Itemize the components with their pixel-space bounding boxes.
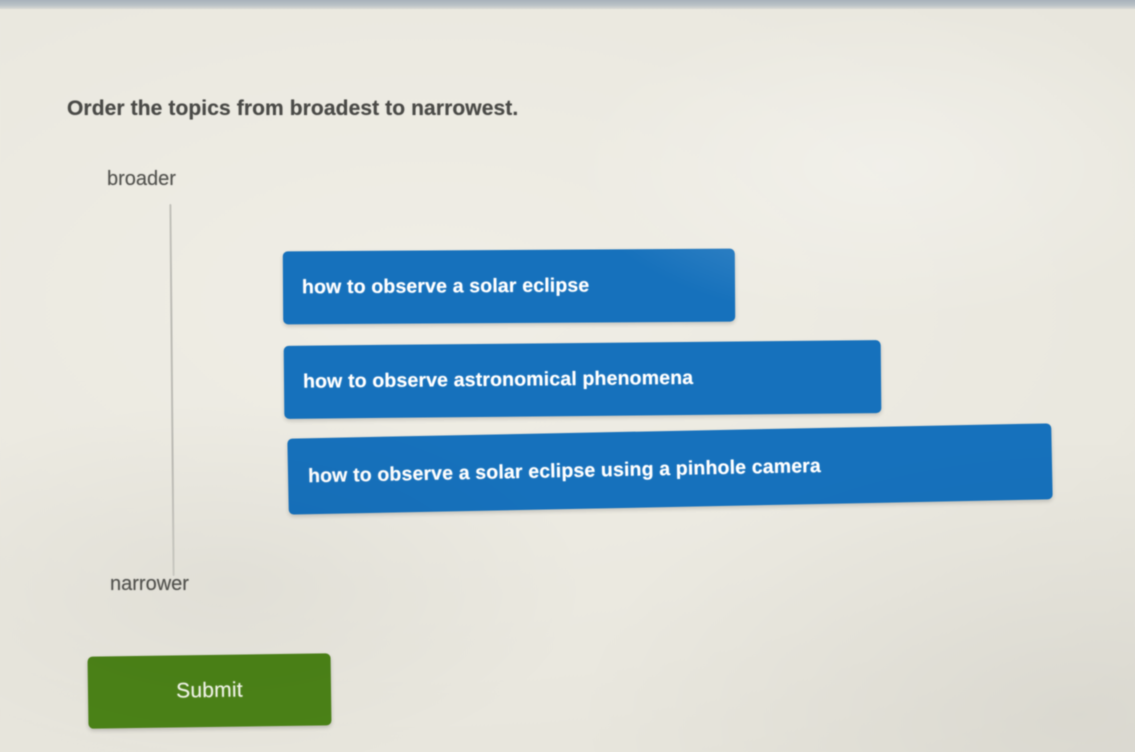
page-top-edge-strip <box>0 0 1135 9</box>
question-page: Order the topics from broadest to narrow… <box>0 0 1135 752</box>
submit-button[interactable]: Submit <box>88 653 332 728</box>
orderable-card-1-label: how to observe a solar eclipse <box>302 275 589 300</box>
ordering-axis-line <box>169 204 174 576</box>
orderable-card-3[interactable]: how to observe a solar eclipse using a p… <box>287 423 1052 514</box>
scale-bottom-label: narrower <box>110 573 189 596</box>
scale-top-label: broader <box>107 168 176 191</box>
orderable-card-2[interactable]: how to observe astronomical phenomena <box>284 340 882 419</box>
page-title: Order the topics from broadest to narrow… <box>67 97 518 121</box>
orderable-card-2-label: how to observe astronomical phenomena <box>303 367 693 394</box>
orderable-card-1[interactable]: how to observe a solar eclipse <box>283 249 735 325</box>
orderable-card-3-label: how to observe a solar eclipse using a p… <box>308 454 821 487</box>
